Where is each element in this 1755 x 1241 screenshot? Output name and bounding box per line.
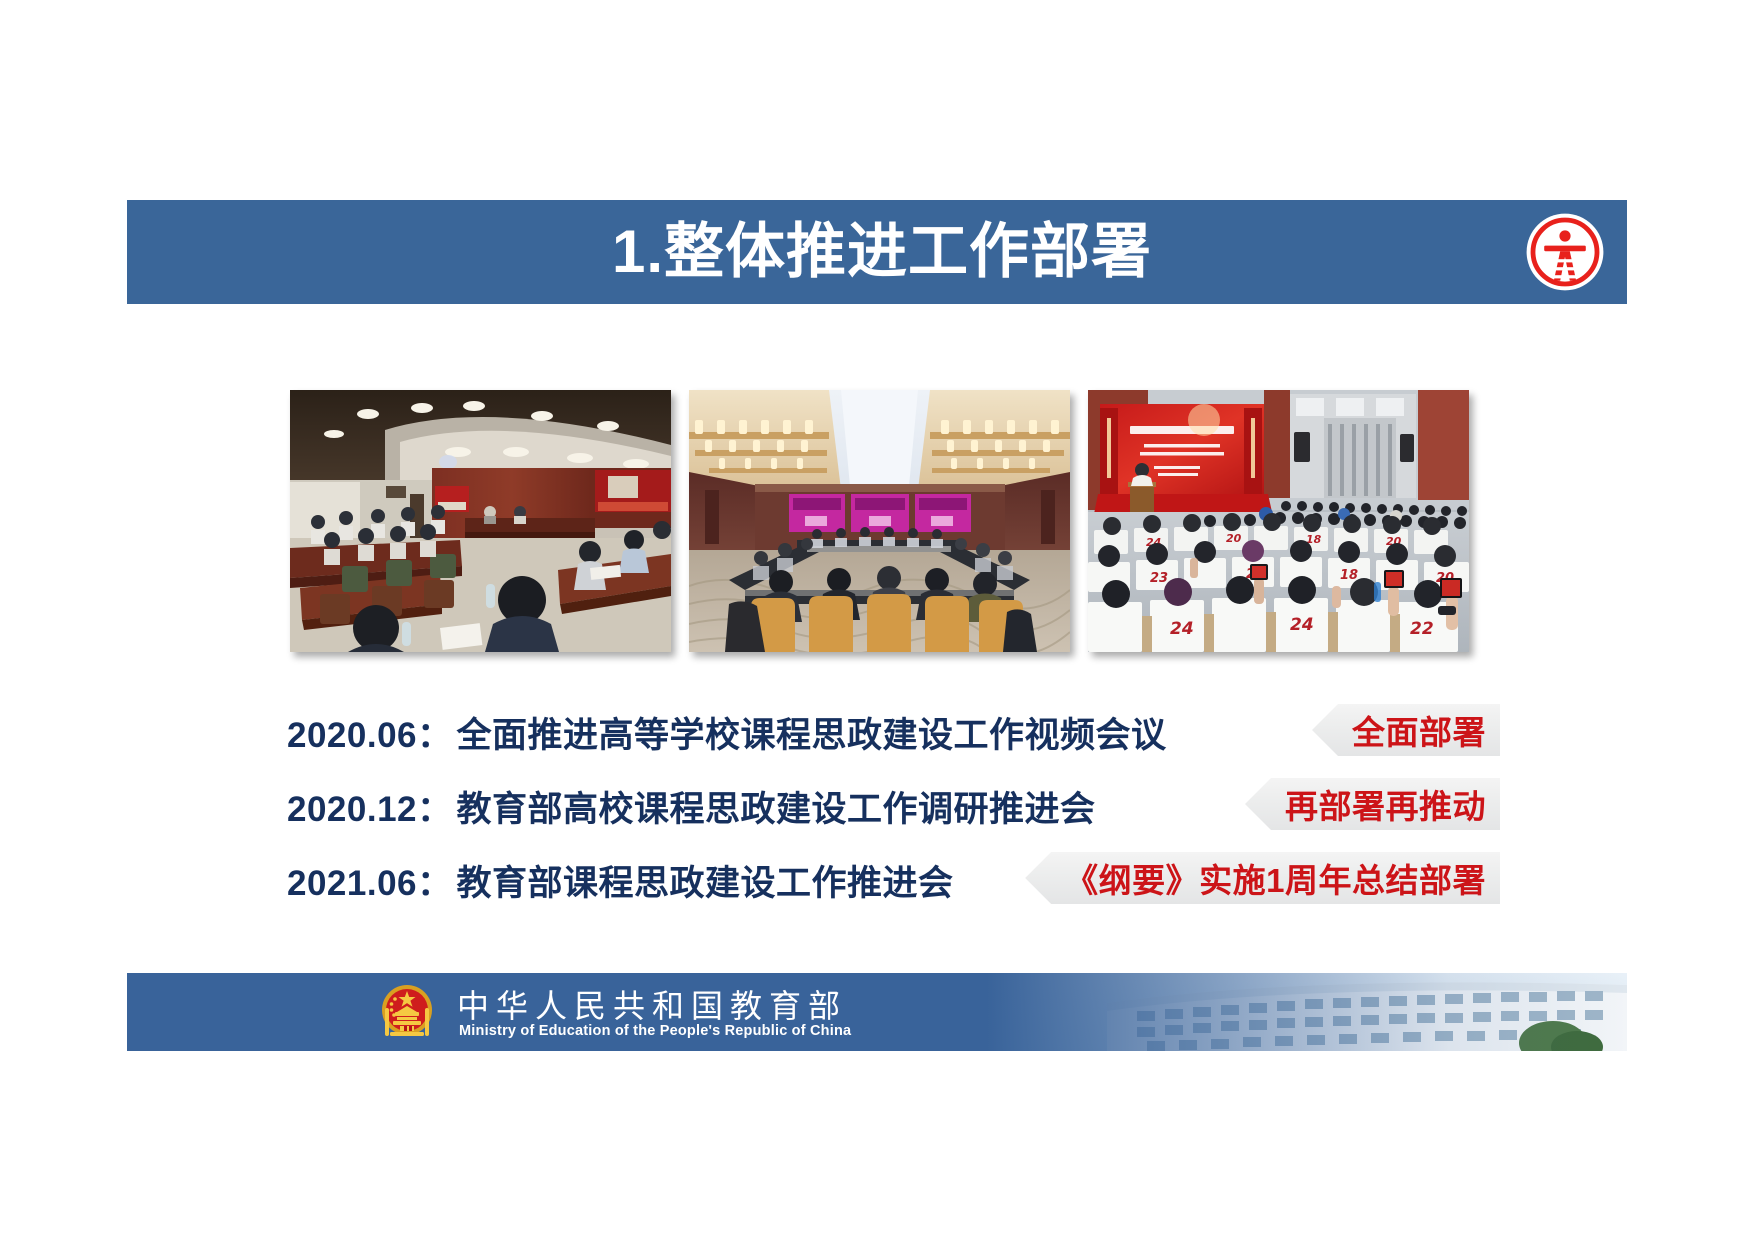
svg-text:24: 24 <box>1170 619 1194 639</box>
svg-text:23: 23 <box>1150 571 1168 586</box>
footer-bar: 中华人民共和国教育部 Ministry of Education of the … <box>127 973 1627 1051</box>
timeline-badge-2: 再部署再推动 <box>1245 778 1500 830</box>
svg-text:20: 20 <box>1226 532 1242 545</box>
timeline-list: 2020.06： 全面推进高等学校课程思政建设工作视频会议 全面部署 2020.… <box>0 695 1755 917</box>
svg-text:18: 18 <box>1340 568 1358 583</box>
photo-auditorium-assembly: 242018 20 <box>1088 390 1469 652</box>
ministry-name-en: Ministry of Education of the People's Re… <box>459 1023 851 1039</box>
photo-hotel-conference-hall <box>689 390 1070 652</box>
slide-title-bar: 1.整体推进工作部署 <box>127 200 1627 304</box>
timeline-date: 2020.06： <box>287 707 453 758</box>
timeline-row: 2020.12： 教育部高校课程思政建设工作调研推进会 再部署再推动 <box>0 769 1755 843</box>
timeline-entry-3: 2021.06： 教育部课程思政建设工作推进会 <box>287 843 954 917</box>
timeline-badge-3: 《纲要》实施1周年总结部署 <box>1025 852 1500 904</box>
timeline-event: 教育部课程思政建设工作推进会 <box>457 855 954 906</box>
svg-text:24: 24 <box>1290 615 1314 635</box>
timeline-row: 2020.06： 全面推进高等学校课程思政建设工作视频会议 全面部署 <box>0 695 1755 769</box>
page-title: 1.整体推进工作部署 <box>612 222 1152 282</box>
photo-gallery: 242018 20 <box>290 390 1480 652</box>
photo-video-conference-room <box>290 390 671 652</box>
slide-canvas: 1.整体推进工作部署 <box>0 0 1755 1241</box>
svg-text:22: 22 <box>1410 619 1434 639</box>
timeline-date: 2021.06： <box>287 855 453 906</box>
ministry-building-photo <box>987 973 1627 1051</box>
timeline-event: 全面推进高等学校课程思政建设工作视频会议 <box>457 707 1167 758</box>
timeline-date: 2020.12： <box>287 781 453 832</box>
timeline-event: 教育部高校课程思政建设工作调研推进会 <box>457 781 1096 832</box>
timeline-entry-1: 2020.06： 全面推进高等学校课程思政建设工作视频会议 <box>287 695 1167 769</box>
timeline-badge-1: 全面部署 <box>1312 704 1500 756</box>
china-national-emblem-icon <box>376 980 438 1044</box>
university-seal-icon <box>1525 212 1605 292</box>
timeline-row: 2021.06： 教育部课程思政建设工作推进会 《纲要》实施1周年总结部署 <box>0 843 1755 917</box>
ministry-name-cn: 中华人民共和国教育部 <box>457 981 847 1027</box>
timeline-entry-2: 2020.12： 教育部高校课程思政建设工作调研推进会 <box>287 769 1096 843</box>
